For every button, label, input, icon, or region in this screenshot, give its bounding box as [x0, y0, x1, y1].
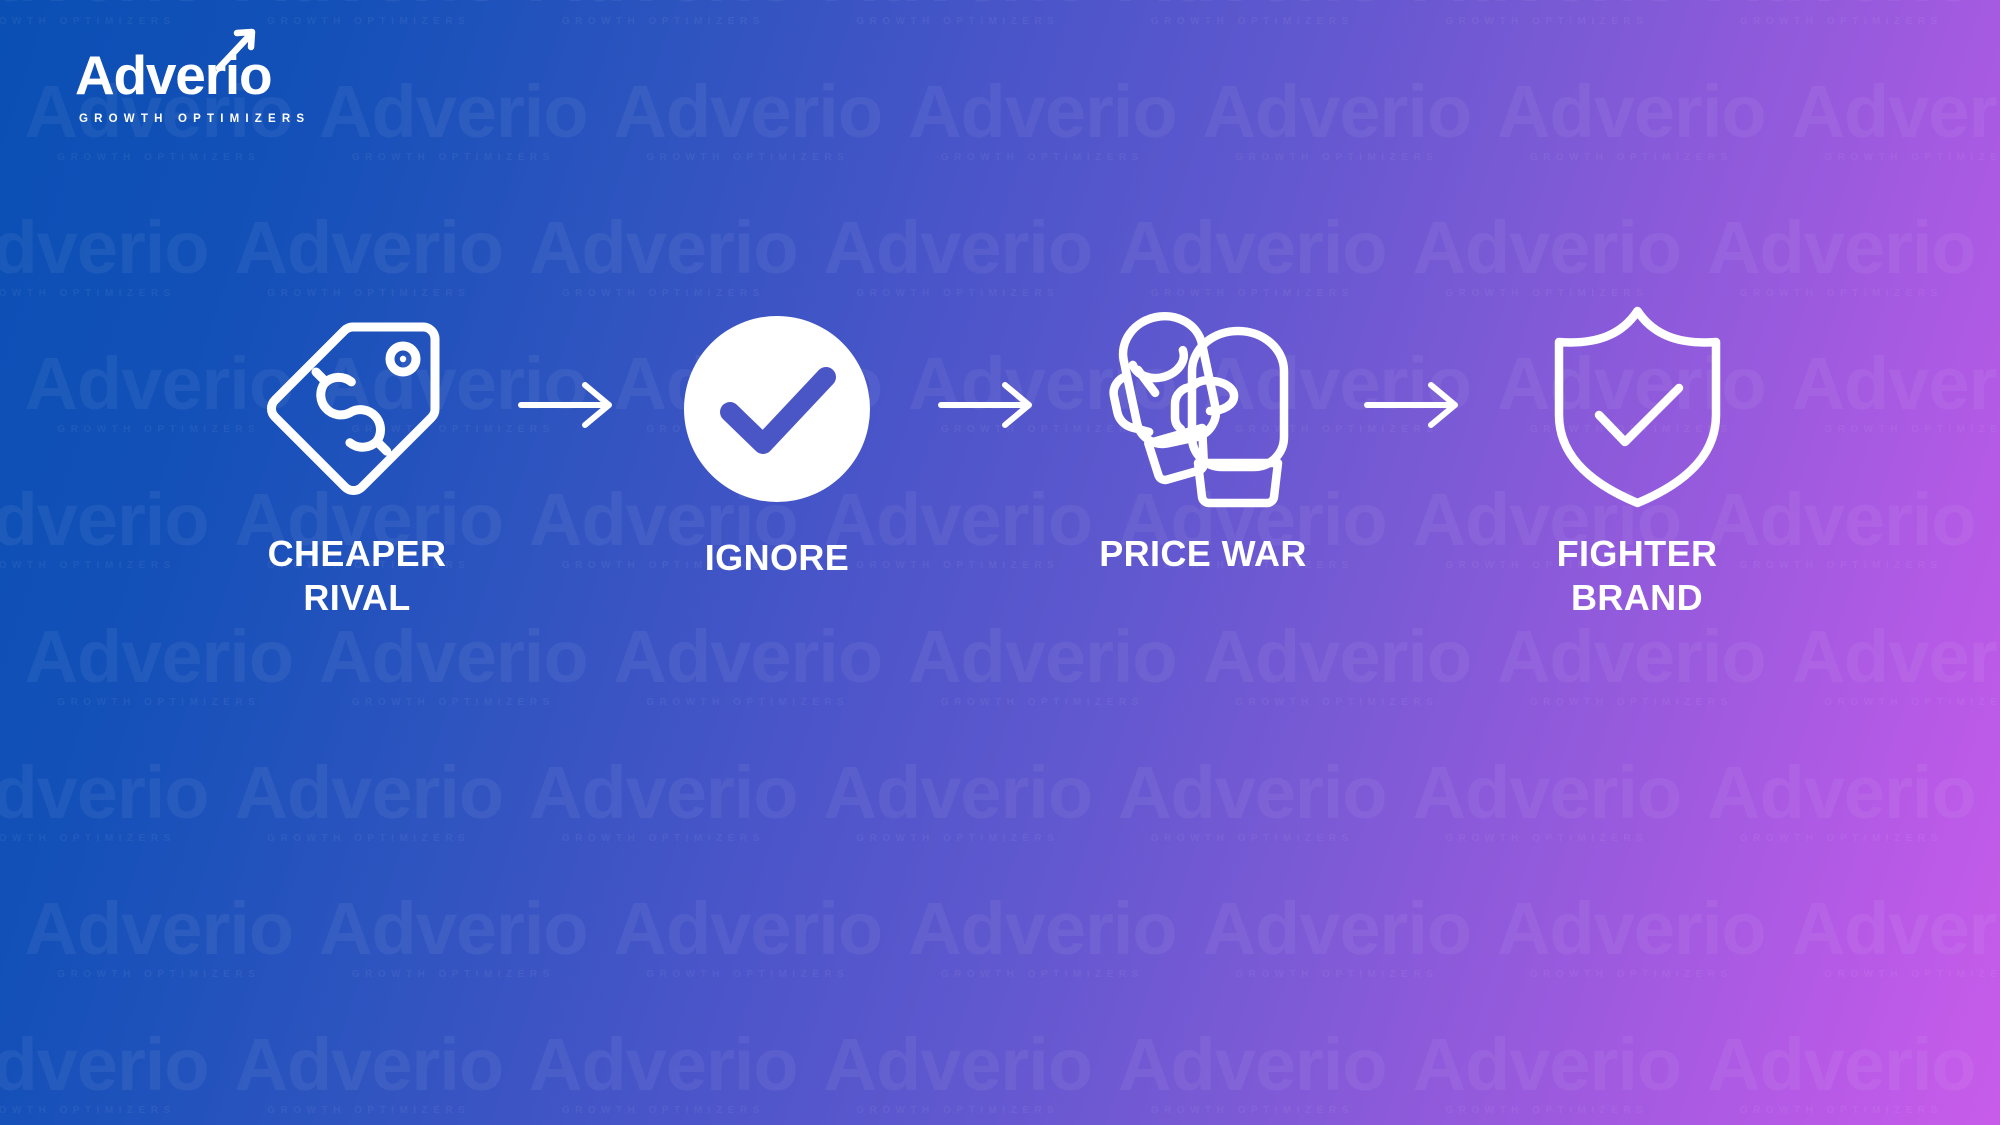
- watermark-unit: AdverioGROWTH OPTIMIZERS: [529, 0, 798, 27]
- watermark-unit: AdverioGROWTH OPTIMIZERS: [1413, 212, 1682, 299]
- watermark-row: AdverioGROWTH OPTIMIZERSAdverioGROWTH OP…: [0, 757, 2000, 893]
- watermark-word: Adverio: [1118, 212, 1387, 283]
- watermark-word: Adverio: [0, 1029, 209, 1100]
- watermark-tagline: GROWTH OPTIMIZERS: [1824, 969, 2000, 980]
- watermark-unit: AdverioGROWTH OPTIMIZERS: [1413, 757, 1682, 844]
- watermark-unit: AdverioGROWTH OPTIMIZERS: [1707, 757, 1976, 844]
- watermark-tagline: GROWTH OPTIMIZERS: [1530, 969, 1733, 980]
- watermark-word: Adverio: [614, 893, 883, 964]
- flow-step-cheaper-rival: CHEAPER RIVAL: [207, 300, 507, 620]
- watermark-tagline: GROWTH OPTIMIZERS: [267, 833, 470, 844]
- watermark-unit: AdverioGROWTH OPTIMIZERS: [614, 76, 883, 163]
- watermark-word: Adverio: [824, 1029, 1093, 1100]
- shield-check-icon: [1545, 303, 1730, 508]
- watermark-tagline: GROWTH OPTIMIZERS: [0, 1105, 176, 1116]
- watermark-word: Adverio: [908, 76, 1177, 147]
- watermark-tagline: GROWTH OPTIMIZERS: [856, 16, 1059, 27]
- watermark-unit: AdverioGROWTH OPTIMIZERS: [908, 76, 1177, 163]
- process-flow: CHEAPER RIVAL IGNORE: [0, 300, 2000, 720]
- watermark-unit: AdverioGROWTH OPTIMIZERS: [235, 212, 504, 299]
- watermark-unit: AdverioGROWTH OPTIMIZERS: [824, 0, 1093, 27]
- watermark-unit: AdverioGROWTH OPTIMIZERS: [25, 893, 294, 980]
- watermark-word: Adverio: [319, 76, 588, 147]
- watermark-unit: AdverioGROWTH OPTIMIZERS: [1118, 1029, 1387, 1116]
- watermark-word: Adverio: [0, 757, 209, 828]
- watermark-unit: AdverioGROWTH OPTIMIZERS: [1497, 76, 1766, 163]
- price-tag-icon: [257, 305, 457, 505]
- watermark-tagline: GROWTH OPTIMIZERS: [267, 288, 470, 299]
- flow-connector-3: [1353, 300, 1473, 510]
- watermark-word: Adverio: [824, 0, 1093, 11]
- watermark-unit: AdverioGROWTH OPTIMIZERS: [1118, 212, 1387, 299]
- arrow-right-icon: [1363, 379, 1463, 431]
- watermark-unit: AdverioGROWTH OPTIMIZERS: [529, 757, 798, 844]
- watermark-word: Adverio: [824, 212, 1093, 283]
- watermark-tagline: GROWTH OPTIMIZERS: [1824, 152, 2000, 163]
- watermark-tagline: GROWTH OPTIMIZERS: [1151, 1105, 1354, 1116]
- flow-step-ignore: IGNORE: [627, 304, 927, 580]
- watermark-word: Adverio: [1497, 76, 1766, 147]
- watermark-unit: AdverioGROWTH OPTIMIZERS: [235, 1029, 504, 1116]
- watermark-word: Adverio: [1707, 757, 1976, 828]
- watermark-unit: AdverioGROWTH OPTIMIZERS: [1792, 893, 2000, 980]
- watermark-tagline: GROWTH OPTIMIZERS: [267, 16, 470, 27]
- watermark-word: Adverio: [235, 757, 504, 828]
- brand-logo: Adverio GROWTH OPTIMIZERS: [75, 48, 310, 125]
- watermark-word: Adverio: [1792, 893, 2000, 964]
- brand-logo-tagline: GROWTH OPTIMIZERS: [75, 113, 310, 125]
- watermark-tagline: GROWTH OPTIMIZERS: [562, 833, 765, 844]
- watermark-tagline: GROWTH OPTIMIZERS: [562, 16, 765, 27]
- watermark-tagline: GROWTH OPTIMIZERS: [1740, 1105, 1943, 1116]
- watermark-tagline: GROWTH OPTIMIZERS: [1151, 833, 1354, 844]
- watermark-tagline: GROWTH OPTIMIZERS: [1151, 16, 1354, 27]
- watermark-tagline: GROWTH OPTIMIZERS: [1235, 152, 1438, 163]
- watermark-word: Adverio: [529, 212, 798, 283]
- watermark-tagline: GROWTH OPTIMIZERS: [941, 152, 1144, 163]
- watermark-unit: AdverioGROWTH OPTIMIZERS: [1118, 0, 1387, 27]
- watermark-row: AdverioGROWTH OPTIMIZERSAdverioGROWTH OP…: [0, 893, 2000, 1029]
- watermark-unit: AdverioGROWTH OPTIMIZERS: [908, 893, 1177, 980]
- watermark-tagline: GROWTH OPTIMIZERS: [1445, 288, 1648, 299]
- watermark-tagline: GROWTH OPTIMIZERS: [0, 833, 176, 844]
- watermark-tagline: GROWTH OPTIMIZERS: [1530, 152, 1733, 163]
- watermark-tagline: GROWTH OPTIMIZERS: [941, 969, 1144, 980]
- watermark-word: Adverio: [1707, 1029, 1976, 1100]
- flow-step-label: IGNORE: [705, 536, 849, 580]
- watermark-tagline: GROWTH OPTIMIZERS: [57, 152, 260, 163]
- watermark-word: Adverio: [235, 1029, 504, 1100]
- watermark-tagline: GROWTH OPTIMIZERS: [267, 1105, 470, 1116]
- brand-logo-text: Adverio: [75, 44, 271, 106]
- watermark-word: Adverio: [1497, 893, 1766, 964]
- watermark-tagline: GROWTH OPTIMIZERS: [352, 969, 555, 980]
- watermark-word: Adverio: [1118, 0, 1387, 11]
- watermark-tagline: GROWTH OPTIMIZERS: [646, 152, 849, 163]
- boxing-gloves-icon-wrap: [1088, 300, 1318, 510]
- watermark-unit: AdverioGROWTH OPTIMIZERS: [1413, 0, 1682, 27]
- watermark-unit: AdverioGROWTH OPTIMIZERS: [824, 212, 1093, 299]
- watermark-word: Adverio: [0, 212, 209, 283]
- brand-logo-wordmark: Adverio: [75, 48, 271, 103]
- check-circle-icon-wrap: [682, 304, 872, 514]
- watermark-tagline: GROWTH OPTIMIZERS: [0, 288, 176, 299]
- watermark-tagline: GROWTH OPTIMIZERS: [1445, 1105, 1648, 1116]
- watermark-tagline: GROWTH OPTIMIZERS: [1151, 288, 1354, 299]
- watermark-word: Adverio: [319, 893, 588, 964]
- watermark-word: Adverio: [908, 893, 1177, 964]
- check-circle-icon: [682, 314, 872, 504]
- flow-step-label: PRICE WAR: [1099, 532, 1307, 576]
- watermark-unit: AdverioGROWTH OPTIMIZERS: [824, 757, 1093, 844]
- watermark-unit: AdverioGROWTH OPTIMIZERS: [0, 0, 209, 27]
- watermark-word: Adverio: [1203, 76, 1472, 147]
- watermark-word: Adverio: [1413, 0, 1682, 11]
- watermark-word: Adverio: [1118, 757, 1387, 828]
- watermark-word: Adverio: [1118, 1029, 1387, 1100]
- watermark-unit: AdverioGROWTH OPTIMIZERS: [1707, 212, 1976, 299]
- watermark-tagline: GROWTH OPTIMIZERS: [352, 152, 555, 163]
- watermark-word: Adverio: [529, 1029, 798, 1100]
- watermark-tagline: GROWTH OPTIMIZERS: [1740, 833, 1943, 844]
- watermark-unit: AdverioGROWTH OPTIMIZERS: [235, 0, 504, 27]
- watermark-unit: AdverioGROWTH OPTIMIZERS: [0, 212, 209, 299]
- price-tag-icon-wrap: [257, 300, 457, 510]
- watermark-tagline: GROWTH OPTIMIZERS: [1740, 16, 1943, 27]
- watermark-tagline: GROWTH OPTIMIZERS: [1445, 16, 1648, 27]
- watermark-word: Adverio: [235, 0, 504, 11]
- watermark-tagline: GROWTH OPTIMIZERS: [1445, 833, 1648, 844]
- watermark-word: Adverio: [25, 893, 294, 964]
- watermark-unit: AdverioGROWTH OPTIMIZERS: [1118, 757, 1387, 844]
- watermark-unit: AdverioGROWTH OPTIMIZERS: [1497, 893, 1766, 980]
- watermark-unit: AdverioGROWTH OPTIMIZERS: [1203, 76, 1472, 163]
- arrow-right-icon: [517, 379, 617, 431]
- watermark-word: Adverio: [0, 0, 209, 11]
- watermark-unit: AdverioGROWTH OPTIMIZERS: [1203, 893, 1472, 980]
- watermark-unit: AdverioGROWTH OPTIMIZERS: [1413, 1029, 1682, 1116]
- watermark-word: Adverio: [1413, 212, 1682, 283]
- watermark-word: Adverio: [235, 212, 504, 283]
- flow-step-fighter-brand: FIGHTER BRAND: [1487, 300, 1787, 620]
- boxing-gloves-icon: [1088, 303, 1318, 508]
- flow-step-label: FIGHTER BRAND: [1557, 532, 1718, 620]
- watermark-word: Adverio: [1707, 0, 1976, 11]
- watermark-word: Adverio: [529, 757, 798, 828]
- watermark-tagline: GROWTH OPTIMIZERS: [856, 833, 1059, 844]
- watermark-word: Adverio: [824, 757, 1093, 828]
- watermark-unit: AdverioGROWTH OPTIMIZERS: [319, 893, 588, 980]
- watermark-unit: AdverioGROWTH OPTIMIZERS: [235, 757, 504, 844]
- watermark-tagline: GROWTH OPTIMIZERS: [856, 288, 1059, 299]
- watermark-unit: AdverioGROWTH OPTIMIZERS: [1707, 0, 1976, 27]
- watermark-unit: AdverioGROWTH OPTIMIZERS: [1707, 1029, 1976, 1116]
- watermark-unit: AdverioGROWTH OPTIMIZERS: [824, 1029, 1093, 1116]
- watermark-unit: AdverioGROWTH OPTIMIZERS: [0, 1029, 209, 1116]
- watermark-unit: AdverioGROWTH OPTIMIZERS: [529, 212, 798, 299]
- watermark-tagline: GROWTH OPTIMIZERS: [562, 1105, 765, 1116]
- watermark-tagline: GROWTH OPTIMIZERS: [646, 969, 849, 980]
- watermark-word: Adverio: [1792, 76, 2000, 147]
- flow-step-label: CHEAPER RIVAL: [268, 532, 447, 620]
- watermark-word: Adverio: [614, 76, 883, 147]
- watermark-word: Adverio: [1203, 893, 1472, 964]
- flow-connector-1: [507, 300, 627, 510]
- watermark-row: AdverioGROWTH OPTIMIZERSAdverioGROWTH OP…: [0, 1029, 2000, 1125]
- watermark-unit: AdverioGROWTH OPTIMIZERS: [0, 757, 209, 844]
- watermark-tagline: GROWTH OPTIMIZERS: [1235, 969, 1438, 980]
- shield-check-icon-wrap: [1545, 300, 1730, 510]
- arrow-right-icon: [937, 379, 1037, 431]
- slide-canvas: AdverioGROWTH OPTIMIZERSAdverioGROWTH OP…: [0, 0, 2000, 1125]
- watermark-tagline: GROWTH OPTIMIZERS: [562, 288, 765, 299]
- watermark-word: Adverio: [1413, 757, 1682, 828]
- watermark-unit: AdverioGROWTH OPTIMIZERS: [529, 1029, 798, 1116]
- watermark-unit: AdverioGROWTH OPTIMIZERS: [1792, 76, 2000, 163]
- flow-connector-2: [927, 300, 1047, 510]
- watermark-tagline: GROWTH OPTIMIZERS: [856, 1105, 1059, 1116]
- watermark-unit: AdverioGROWTH OPTIMIZERS: [319, 76, 588, 163]
- watermark-tagline: GROWTH OPTIMIZERS: [57, 969, 260, 980]
- watermark-tagline: GROWTH OPTIMIZERS: [1740, 288, 1943, 299]
- flow-step-price-war: PRICE WAR: [1053, 300, 1353, 576]
- watermark-word: Adverio: [1707, 212, 1976, 283]
- watermark-unit: AdverioGROWTH OPTIMIZERS: [614, 893, 883, 980]
- watermark-tagline: GROWTH OPTIMIZERS: [0, 16, 176, 27]
- watermark-word: Adverio: [529, 0, 798, 11]
- watermark-word: Adverio: [1413, 1029, 1682, 1100]
